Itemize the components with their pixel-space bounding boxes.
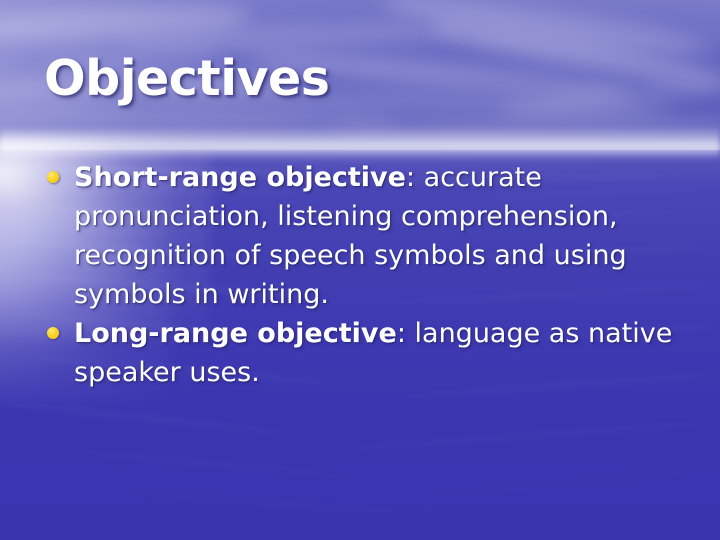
list-item-separator: : (397, 318, 415, 349)
list-item: Long-range objective: language as native… (44, 314, 684, 392)
list-item: Short-range objective: accurate pronunci… (44, 158, 684, 314)
gold-dot-bullet-icon (47, 327, 59, 339)
bullet-list: Short-range objective: accurate pronunci… (44, 158, 684, 392)
slide-title: Objectives (44, 52, 329, 106)
gold-dot-bullet-icon (47, 171, 59, 183)
list-item-lead: Long-range objective (74, 318, 397, 349)
presentation-slide: Objectives Short-range objective: accura… (0, 0, 720, 540)
list-item-separator: : (406, 162, 424, 193)
list-item-lead: Short-range objective (74, 162, 406, 193)
slide-content: Objectives Short-range objective: accura… (0, 0, 720, 540)
